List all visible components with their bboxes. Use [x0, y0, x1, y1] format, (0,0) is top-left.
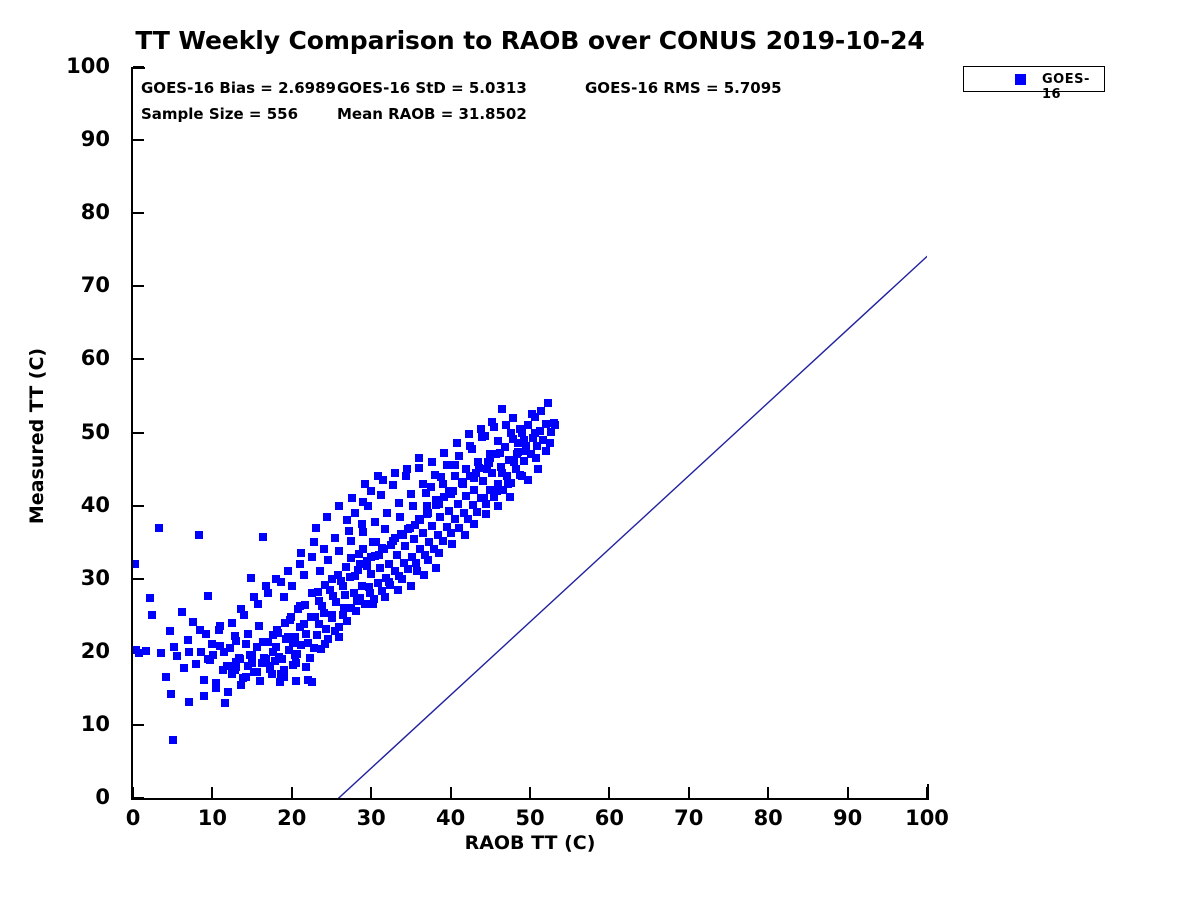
scatter-point	[465, 430, 473, 438]
scatter-point	[189, 618, 197, 626]
scatter-point	[394, 586, 402, 594]
scatter-point	[343, 617, 351, 625]
scatter-point	[180, 664, 188, 672]
scatter-point	[498, 405, 506, 413]
scatter-point	[162, 673, 170, 681]
scatter-point	[461, 531, 469, 539]
scatter-point	[292, 677, 300, 685]
scatter-point	[321, 581, 329, 589]
scatter-point	[483, 465, 491, 473]
scatter-point	[462, 492, 470, 500]
scatter-point	[448, 540, 456, 548]
one-to-one-reference-line	[266, 134, 927, 798]
scatter-point	[184, 636, 192, 644]
scatter-point	[474, 458, 482, 466]
scatter-point	[359, 528, 367, 536]
scatter-point	[307, 613, 315, 621]
scatter-point	[436, 513, 444, 521]
scatter-point	[310, 644, 318, 652]
scatter-point	[208, 640, 216, 648]
scatter-point	[445, 507, 453, 515]
scatter-point	[335, 547, 343, 555]
legend-swatch-goes-16	[1015, 74, 1026, 85]
scatter-point	[256, 677, 264, 685]
scatter-point	[395, 499, 403, 507]
y-tick-label-40: 40	[0, 493, 110, 517]
scatter-point	[200, 692, 208, 700]
scatter-point	[259, 638, 267, 646]
scatter-point	[306, 654, 314, 662]
scatter-point	[335, 633, 343, 641]
scatter-point	[178, 608, 186, 616]
x-tick-label-10: 10	[172, 806, 252, 830]
scatter-point	[494, 437, 502, 445]
scatter-point	[250, 593, 258, 601]
scatter-point	[423, 502, 431, 510]
scatter-point	[428, 458, 436, 466]
scatter-point	[276, 678, 284, 686]
scatter-point	[358, 520, 366, 528]
scatter-point	[542, 447, 550, 455]
scatter-point	[401, 542, 409, 550]
scatter-point	[462, 465, 470, 473]
scatter-point	[335, 502, 343, 510]
scatter-point	[522, 447, 530, 455]
scatter-point	[255, 622, 263, 630]
scatter-point	[513, 450, 521, 458]
scatter-point	[302, 663, 310, 671]
scatter-point	[310, 538, 318, 546]
scatter-point	[415, 464, 423, 472]
scatter-point	[391, 534, 399, 542]
scatter-point	[375, 551, 383, 559]
scatter-point	[477, 425, 485, 433]
scatter-point	[551, 421, 559, 429]
scatter-point	[133, 560, 139, 568]
scatter-point	[196, 626, 204, 634]
scatter-point	[272, 575, 280, 583]
scatter-point	[410, 535, 418, 543]
scatter-point	[454, 500, 462, 508]
scatter-point	[432, 496, 440, 504]
scatter-point	[435, 549, 443, 557]
scatter-point	[170, 643, 178, 651]
x-tick-label-90: 90	[808, 806, 888, 830]
scatter-point	[320, 545, 328, 553]
scatter-point	[356, 560, 364, 568]
scatter-point	[204, 592, 212, 600]
x-tick-label-70: 70	[649, 806, 729, 830]
scatter-point	[443, 461, 451, 469]
y-tick-label-80: 80	[0, 200, 110, 224]
scatter-point	[266, 662, 274, 670]
x-tick-label-60: 60	[569, 806, 649, 830]
scatter-point	[466, 442, 474, 450]
scatter-point	[291, 651, 299, 659]
scatter-point	[212, 679, 220, 687]
scatter-point	[381, 525, 389, 533]
scatter-point	[324, 556, 332, 564]
y-tick-label-20: 20	[0, 639, 110, 663]
y-tick-label-0: 0	[0, 785, 110, 809]
scatter-point	[372, 538, 380, 546]
y-tick-label-60: 60	[0, 346, 110, 370]
scatter-point	[259, 533, 267, 541]
scatter-point	[253, 668, 261, 676]
scatter-point	[367, 553, 375, 561]
scatter-point	[470, 474, 478, 482]
scatter-point	[343, 516, 351, 524]
scatter-point	[445, 487, 453, 495]
scatter-point	[470, 520, 478, 528]
scatter-point	[351, 572, 359, 580]
scatter-point	[482, 510, 490, 518]
scatter-point	[268, 670, 276, 678]
scatter-point	[269, 631, 277, 639]
scatter-point	[248, 659, 256, 667]
scatter-point	[361, 600, 369, 608]
stat-annotation-4: Mean RAOB = 31.8502	[337, 105, 527, 123]
chart-figure: TT Weekly Comparison to RAOB over CONUS …	[0, 0, 1200, 900]
scatter-point	[415, 454, 423, 462]
scatter-point	[447, 529, 455, 537]
scatter-point	[204, 655, 212, 663]
scatter-point	[391, 469, 399, 477]
scatter-point	[313, 631, 321, 639]
scatter-point	[335, 623, 343, 631]
x-axis-spine	[131, 798, 929, 800]
scatter-point	[546, 439, 554, 447]
scatter-point	[404, 565, 412, 573]
scatter-point	[371, 518, 379, 526]
scatter-point	[451, 515, 459, 523]
scatter-point	[294, 605, 302, 613]
scatter-point	[473, 508, 481, 516]
scatter-point	[398, 575, 406, 583]
scatter-point	[173, 652, 181, 660]
scatter-point	[296, 560, 304, 568]
scatter-point	[488, 418, 496, 426]
scatter-point	[341, 591, 349, 599]
scatter-point	[524, 476, 532, 484]
scatter-point	[289, 639, 297, 647]
scatter-point	[404, 525, 412, 533]
scatter-point	[340, 604, 348, 612]
scatter-point	[367, 487, 375, 495]
scatter-point	[366, 589, 374, 597]
y-axis-label: Measured TT (C)	[26, 286, 48, 586]
scatter-point	[393, 551, 401, 559]
scatter-point	[458, 478, 466, 486]
scatter-point	[148, 611, 156, 619]
scatter-point	[300, 571, 308, 579]
x-axis-label: RAOB TT (C)	[133, 832, 927, 854]
scatter-point	[228, 619, 236, 627]
scatter-point	[381, 593, 389, 601]
scatter-point	[280, 666, 288, 674]
x-tick-label-0: 0	[93, 806, 173, 830]
scatter-point	[166, 627, 174, 635]
scatter-point	[142, 647, 150, 655]
scatter-point	[424, 556, 432, 564]
scatter-point	[242, 640, 250, 648]
y-tick-label-30: 30	[0, 566, 110, 590]
scatter-point	[416, 516, 424, 524]
scatter-point	[246, 651, 254, 659]
scatter-point	[528, 410, 536, 418]
scatter-point	[493, 487, 501, 495]
scatter-point	[146, 594, 154, 602]
scatter-point	[292, 659, 300, 667]
y-tick-label-70: 70	[0, 273, 110, 297]
scatter-point	[348, 494, 356, 502]
scatter-point	[262, 582, 270, 590]
scatter-point	[531, 429, 539, 437]
stat-annotation-3: Sample Size = 556	[141, 105, 298, 123]
scatter-point	[322, 625, 330, 633]
scatter-point	[506, 493, 514, 501]
scatter-point	[369, 600, 377, 608]
scatter-point	[280, 593, 288, 601]
scatter-point	[240, 611, 248, 619]
scatter-point	[272, 643, 280, 651]
scatter-point	[498, 469, 506, 477]
scatter-point	[328, 611, 336, 619]
scatter-point	[516, 425, 524, 433]
scatter-point	[264, 589, 272, 597]
scatter-point	[376, 564, 384, 572]
scatter-point	[374, 472, 382, 480]
scatter-point	[359, 545, 367, 553]
scatter-point	[216, 622, 224, 630]
scatter-point	[347, 554, 355, 562]
scatter-point	[278, 655, 286, 663]
y-tick-label-10: 10	[0, 712, 110, 736]
scatter-point	[361, 480, 369, 488]
scatter-point	[409, 502, 417, 510]
scatter-point	[364, 502, 372, 510]
scatter-point	[402, 472, 410, 480]
scatter-point	[334, 571, 342, 579]
scatter-point	[351, 509, 359, 517]
scatter-point	[507, 429, 515, 437]
scatter-point	[155, 524, 163, 532]
scatter-point	[345, 527, 353, 535]
scatter-point	[244, 630, 252, 638]
scatter-point	[407, 582, 415, 590]
scatter-point	[374, 579, 382, 587]
scatter-point	[185, 648, 193, 656]
scatter-point	[347, 537, 355, 545]
scatter-point	[192, 660, 200, 668]
scatter-point	[470, 486, 478, 494]
scatter-point	[385, 578, 393, 586]
scatter-point	[407, 490, 415, 498]
scatter-point	[288, 582, 296, 590]
scatter-point	[440, 449, 448, 457]
legend[interactable]: GOES-16	[963, 66, 1105, 92]
scatter-point	[302, 630, 310, 638]
scatter-point	[342, 563, 350, 571]
scatter-point	[496, 449, 504, 457]
scatter-point	[224, 688, 232, 696]
scatter-point	[321, 640, 329, 648]
scatter-point	[281, 619, 289, 627]
scatter-point	[331, 534, 339, 542]
scatter-point	[232, 637, 240, 645]
scatter-point	[352, 607, 360, 615]
scatter-point	[494, 502, 502, 510]
scatter-point	[169, 736, 177, 744]
scatter-point	[367, 570, 375, 578]
scatter-point	[419, 529, 427, 537]
scatter-point	[185, 698, 193, 706]
scatter-point	[329, 592, 337, 600]
scatter-point	[237, 681, 245, 689]
scatter-point	[455, 452, 463, 460]
scatter-point	[220, 648, 228, 656]
scatter-point	[284, 567, 292, 575]
scatter-point	[389, 481, 397, 489]
scatter-point	[247, 574, 255, 582]
scatter-point	[486, 454, 494, 462]
x-tick-label-80: 80	[728, 806, 808, 830]
x-tick-label-40: 40	[411, 806, 491, 830]
x-tick-label-30: 30	[331, 806, 411, 830]
y-tick-label-100: 100	[0, 54, 110, 78]
x-tick-label-50: 50	[490, 806, 570, 830]
scatter-point	[537, 407, 545, 415]
scatter-point	[453, 439, 461, 447]
scatter-point	[339, 582, 347, 590]
scatter-point	[510, 458, 518, 466]
scatter-point	[480, 494, 488, 502]
scatter-point	[363, 562, 371, 570]
scatter-point	[377, 491, 385, 499]
scatter-point	[520, 436, 528, 444]
scatter-point	[221, 699, 229, 707]
scatter-point	[304, 676, 312, 684]
page-title: TT Weekly Comparison to RAOB over CONUS …	[0, 26, 1060, 55]
scatter-point	[534, 465, 542, 473]
scatter-point	[544, 399, 552, 407]
scatter-point	[157, 649, 165, 657]
scatter-point	[504, 480, 512, 488]
scatter-point	[412, 559, 420, 567]
stat-annotation-1: GOES-16 StD = 5.0313	[337, 79, 527, 97]
x-tick-label-100: 100	[887, 806, 967, 830]
scatter-point	[308, 553, 316, 561]
scatter-point	[297, 549, 305, 557]
scatter-point	[451, 461, 459, 469]
scatter-point	[323, 513, 331, 521]
scatter-point	[195, 531, 203, 539]
scatter-point	[420, 571, 428, 579]
scatter-point	[479, 477, 487, 485]
scatter-point	[318, 602, 326, 610]
scatter-point	[312, 524, 320, 532]
scatter-point	[231, 666, 239, 674]
stat-annotation-0: GOES-16 Bias = 2.6989	[141, 79, 336, 97]
scatter-point	[427, 483, 435, 491]
scatter-point	[439, 537, 447, 545]
scatter-point	[236, 655, 244, 663]
y-tick-label-50: 50	[0, 420, 110, 444]
stat-annotation-2: GOES-16 RMS = 5.7095	[585, 79, 782, 97]
scatter-point	[200, 676, 208, 684]
scatter-point	[316, 567, 324, 575]
scatter-point	[260, 654, 268, 662]
scatter-point	[432, 564, 440, 572]
scatter-point	[542, 420, 550, 428]
scatter-point	[478, 433, 486, 441]
x-tick-label-20: 20	[252, 806, 332, 830]
scatter-point	[167, 690, 175, 698]
scatter-point	[396, 513, 404, 521]
scatter-point	[431, 471, 439, 479]
scatter-point	[383, 509, 391, 517]
scatter-point	[254, 600, 262, 608]
scatter-point	[353, 597, 361, 605]
scatter-point	[428, 522, 436, 530]
legend-label-goes-16: GOES-16	[1042, 72, 1104, 102]
scatter-point	[315, 620, 323, 628]
plot-area	[133, 67, 927, 798]
scatter-point	[419, 480, 427, 488]
y-tick-label-90: 90	[0, 127, 110, 151]
scatter-point	[308, 589, 316, 597]
scatter-point	[532, 454, 540, 462]
